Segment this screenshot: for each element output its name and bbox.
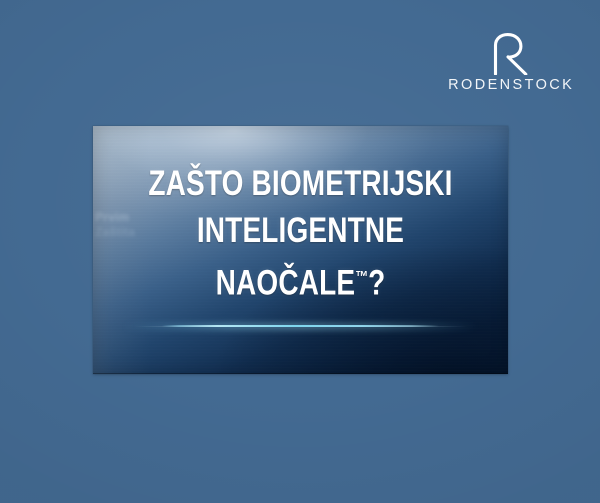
brand-logo: RODENSTOCK [448, 33, 572, 93]
presentation-slide-panel: Prvim Zaštita ZAŠTO BIOMETRIJSKI INTELIG… [93, 126, 508, 374]
slide-canvas: RODENSTOCK Prvim Zaštita ZAŠTO BIOMETRIJ… [0, 0, 600, 503]
accent-divider-line [162, 325, 439, 327]
headline-line-3-suffix: ? [368, 264, 385, 303]
rodenstock-r-monogram-icon [487, 33, 533, 75]
headline-line-3-text: NAOČALE [216, 264, 356, 303]
accent-divider [123, 322, 478, 331]
trademark-symbol: ™ [355, 268, 368, 286]
headline-line-1: ZAŠTO BIOMETRIJSKI [135, 160, 467, 207]
headline-line-2: INTELIGENTNE [135, 207, 467, 254]
slide-headline: ZAŠTO BIOMETRIJSKI INTELIGENTNE NAOČALE™… [93, 160, 508, 307]
headline-line-3: NAOČALE™? [135, 254, 467, 307]
brand-wordmark: RODENSTOCK [446, 78, 574, 93]
